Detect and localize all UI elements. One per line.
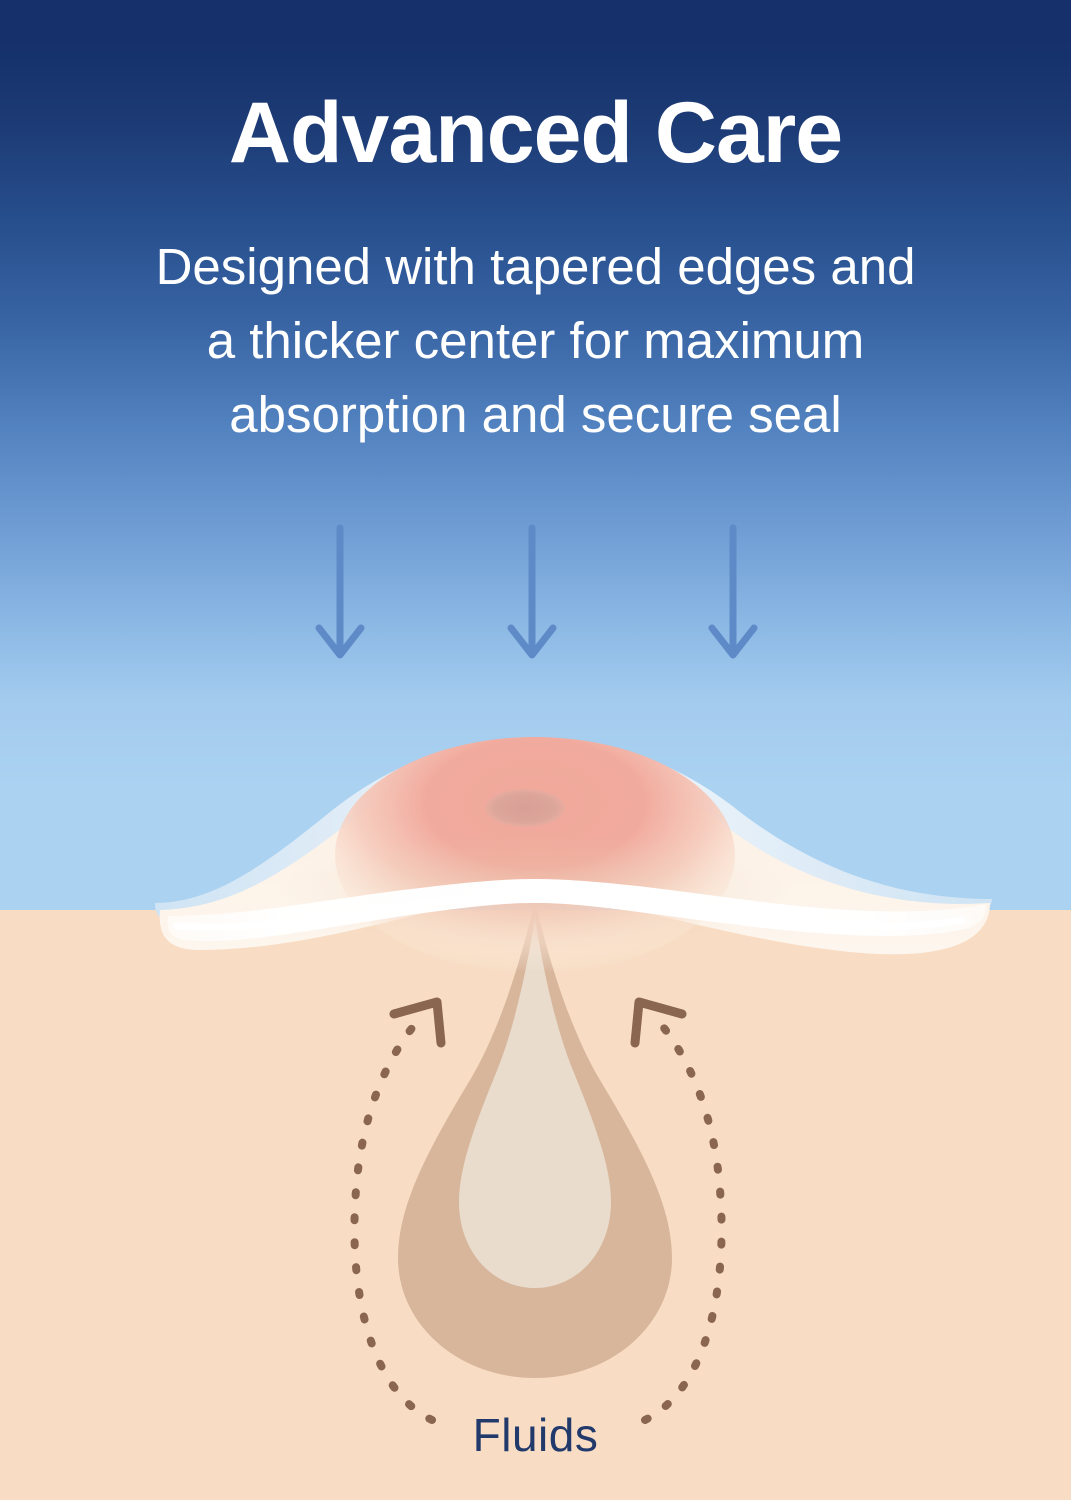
arrow-down-icon [712,528,754,655]
arrow-down-icon [319,528,361,655]
pressure-arrow-group [319,528,754,655]
fluids-label: Fluids [0,1408,1071,1462]
arrow-head-left-icon [394,1002,441,1043]
arrow-down-icon [511,528,553,655]
hydrocolloid-dressing [155,737,992,973]
illustration-canvas: Advanced Care Designed with tapered edge… [0,0,1071,1500]
wound-center-spot [485,789,565,827]
illustration-artwork [0,0,1071,1500]
arrow-head-right-icon [635,1002,682,1043]
